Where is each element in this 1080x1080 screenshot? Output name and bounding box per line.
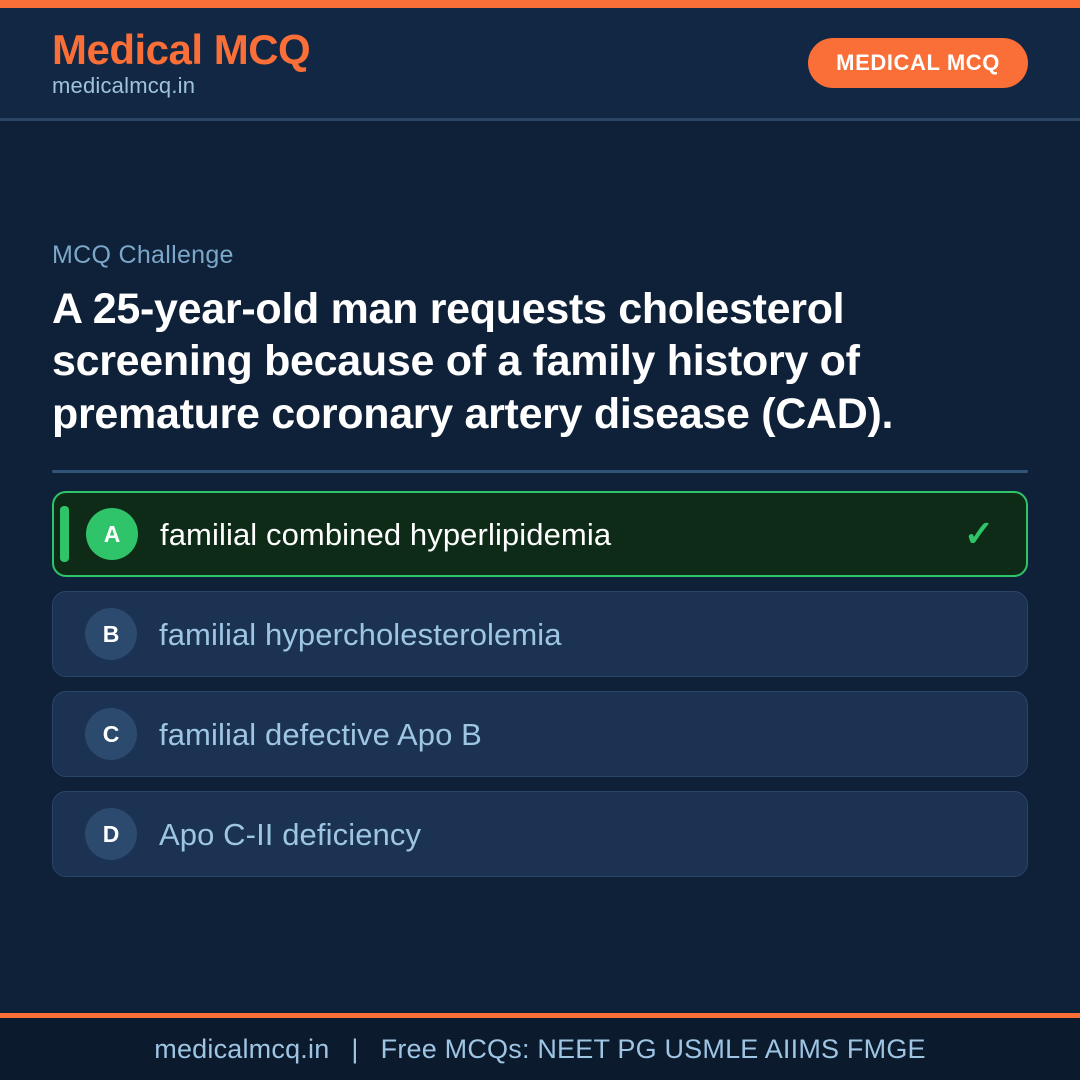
question-body: MCQ Challenge A 25-year-old man requests… [0, 121, 1080, 1013]
top-accent-bar [0, 0, 1080, 8]
brand-subtitle: medicalmcq.in [52, 74, 310, 98]
option-label: Apo C-II deficiency [159, 817, 1003, 853]
check-icon: ✓ [964, 516, 994, 552]
header-bar: Medical MCQ medicalmcq.in MEDICAL MCQ [0, 8, 1080, 121]
footer-exams-label: Free MCQs: NEET PG USMLE AIIMS FMGE [381, 1034, 926, 1065]
eyebrow-label: MCQ Challenge [52, 241, 1028, 270]
question-text: A 25-year-old man requests cholesterol s… [52, 283, 1028, 440]
option-item-a[interactable]: A familial combined hyperlipidemia ✓ [52, 491, 1028, 577]
options-list: A familial combined hyperlipidemia ✓ B f… [52, 491, 1028, 877]
option-letter-badge: B [85, 608, 137, 660]
footer-bar: medicalmcq.in | Free MCQs: NEET PG USMLE… [0, 1013, 1080, 1080]
mcq-card: Medical MCQ medicalmcq.in MEDICAL MCQ MC… [0, 0, 1080, 1080]
option-label: familial combined hyperlipidemia [160, 517, 964, 553]
option-item-c[interactable]: C familial defective Apo B [52, 691, 1028, 777]
option-item-d[interactable]: D Apo C-II deficiency [52, 791, 1028, 877]
option-letter-badge: C [85, 708, 137, 760]
option-letter-badge: A [86, 508, 138, 560]
divider-rule [52, 470, 1028, 473]
footer-site-label: medicalmcq.in [154, 1034, 329, 1065]
option-letter-badge: D [85, 808, 137, 860]
correct-accent-bar [60, 506, 69, 562]
brand-block: Medical MCQ medicalmcq.in [52, 28, 310, 98]
header-badge[interactable]: MEDICAL MCQ [808, 38, 1028, 88]
option-label: familial defective Apo B [159, 717, 1003, 753]
footer-separator: | [351, 1034, 358, 1065]
option-item-b[interactable]: B familial hypercholesterolemia [52, 591, 1028, 677]
brand-title: Medical MCQ [52, 28, 310, 72]
option-label: familial hypercholesterolemia [159, 617, 1003, 653]
